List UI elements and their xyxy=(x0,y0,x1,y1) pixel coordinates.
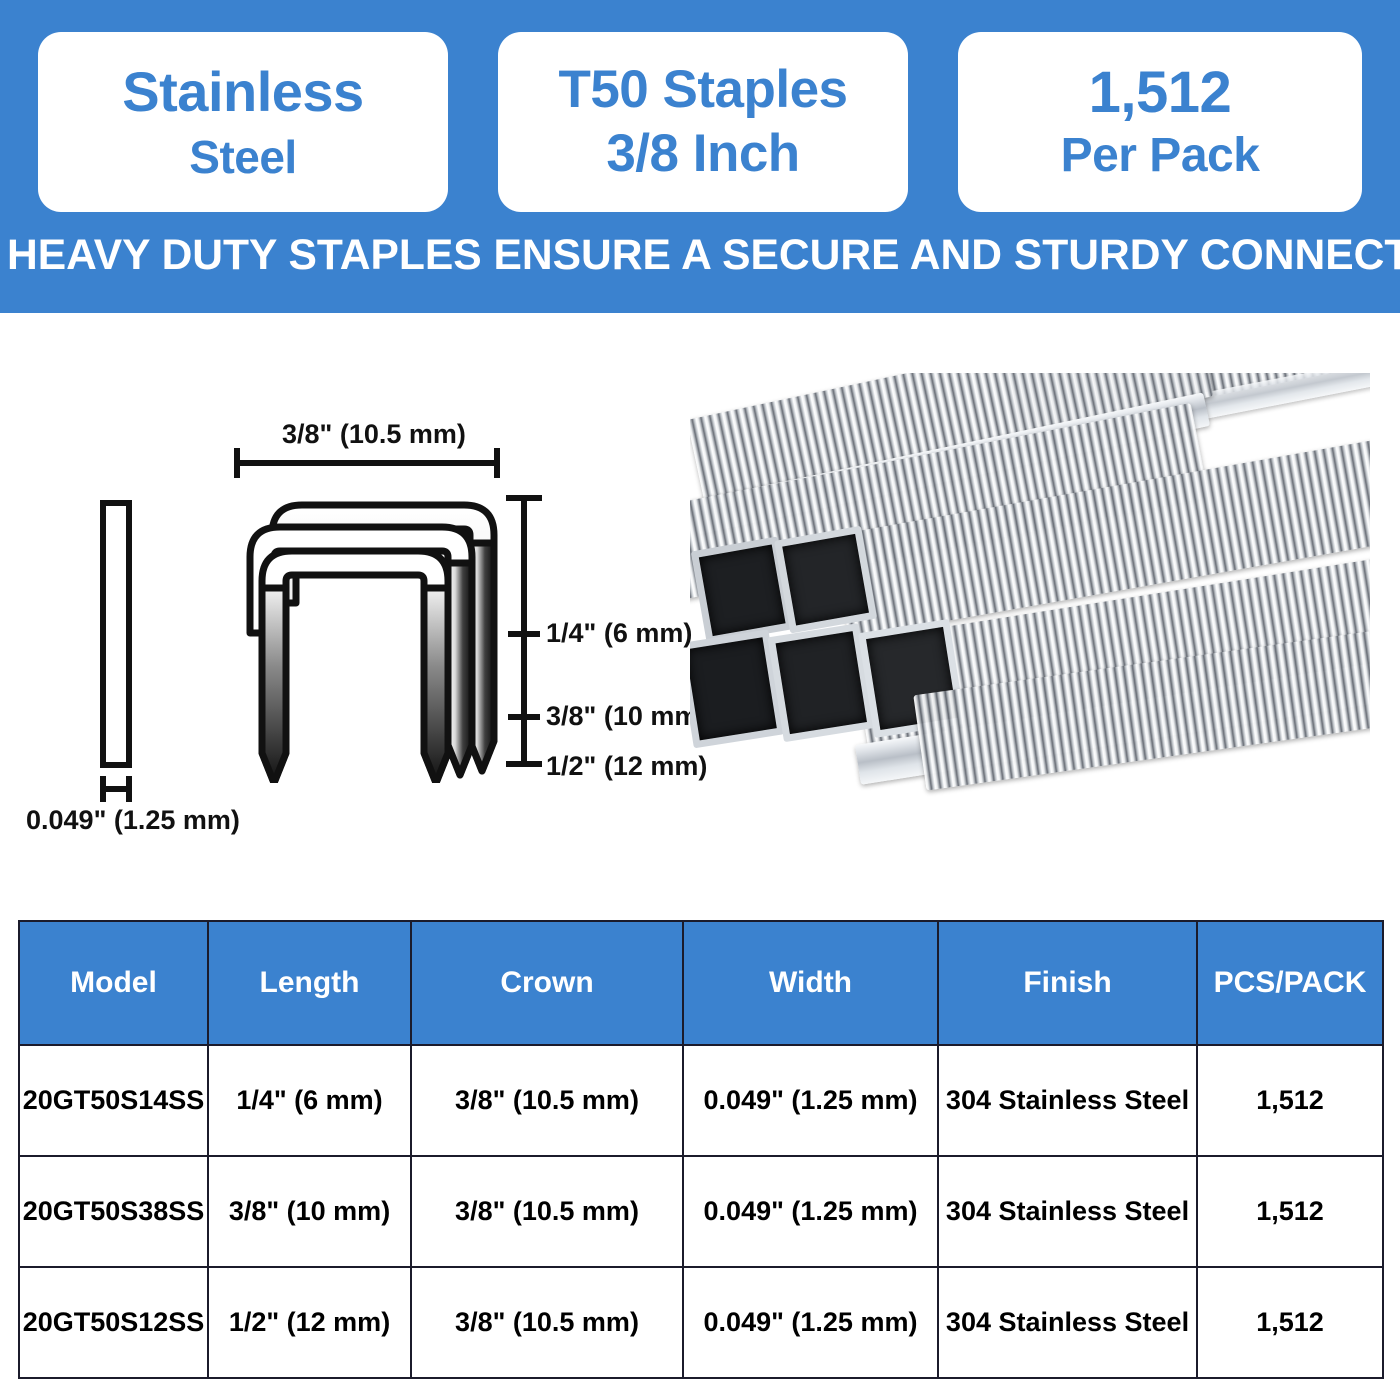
spec-card-type-line2: 3/8 Inch xyxy=(606,127,799,181)
length-ruler-cap-top xyxy=(506,495,542,501)
cell-length: 3/8" (10 mm) xyxy=(208,1156,411,1267)
width-dimension-cap-right xyxy=(126,776,132,802)
spec-card-type-line1: T50 Staples xyxy=(558,63,847,117)
cell-pcs-pack: 1,512 xyxy=(1197,1045,1383,1156)
table-row: 20GT50S14SS 1/4" (6 mm) 3/8" (10.5 mm) 0… xyxy=(19,1045,1383,1156)
staple-middle-right-leg xyxy=(448,563,472,775)
spec-card-quantity-line1: 1,512 xyxy=(1089,63,1232,122)
diagram-section: 0.049" (1.25 mm) 3/8" (10.5 mm) xyxy=(0,313,1400,913)
crown-dimension-line xyxy=(234,460,500,466)
spec-card-type: T50 Staples 3/8 Inch xyxy=(498,32,908,212)
cell-crown: 3/8" (10.5 mm) xyxy=(411,1156,683,1267)
cell-finish: 304 Stainless Steel xyxy=(938,1045,1197,1156)
spec-card-material-line1: Stainless xyxy=(122,63,363,120)
length-label-three-eighths: 3/8" (10 mm) xyxy=(546,701,707,732)
width-dimension-cap-left xyxy=(100,776,106,802)
width-dimension-label: 0.049" (1.25 mm) xyxy=(26,805,240,836)
cell-model: 20GT50S14SS xyxy=(19,1045,208,1156)
cell-length: 1/4" (6 mm) xyxy=(208,1045,411,1156)
staple-strips-photo xyxy=(690,373,1370,843)
staple-wire-cross-section xyxy=(100,500,132,768)
header-tagline: HEAVY DUTY STAPLES ENSURE A SECURE AND S… xyxy=(7,231,1393,280)
length-label-quarter: 1/4" (6 mm) xyxy=(546,618,692,649)
spec-card-material: Stainless Steel xyxy=(38,32,448,212)
column-header-pcs-pack: PCS/PACK xyxy=(1197,921,1383,1045)
spec-card-material-line2: Steel xyxy=(189,134,296,181)
cell-pcs-pack: 1,512 xyxy=(1197,1156,1383,1267)
cell-model: 20GT50S38SS xyxy=(19,1156,208,1267)
staple-line-drawing xyxy=(232,483,522,783)
crown-dimension-label: 3/8" (10.5 mm) xyxy=(282,419,466,450)
table-row: 20GT50S12SS 1/2" (12 mm) 3/8" (10.5 mm) … xyxy=(19,1267,1383,1378)
cell-width: 0.049" (1.25 mm) xyxy=(683,1156,938,1267)
table-header-row: Model Length Crown Width Finish PCS/PACK xyxy=(19,921,1383,1045)
cell-crown: 3/8" (10.5 mm) xyxy=(411,1045,683,1156)
length-label-half: 1/2" (12 mm) xyxy=(546,751,707,782)
column-header-length: Length xyxy=(208,921,411,1045)
cell-model: 20GT50S12SS xyxy=(19,1267,208,1378)
header-banner: Stainless Steel T50 Staples 3/8 Inch 1,5… xyxy=(0,0,1400,313)
product-infographic: Stainless Steel T50 Staples 3/8 Inch 1,5… xyxy=(0,0,1400,1400)
cell-crown: 3/8" (10.5 mm) xyxy=(411,1267,683,1378)
cell-width: 0.049" (1.25 mm) xyxy=(683,1045,938,1156)
crown-dimension-cap-right xyxy=(494,448,500,478)
cell-finish: 304 Stainless Steel xyxy=(938,1156,1197,1267)
length-ruler-cap-bottom xyxy=(506,761,542,767)
staple-front-right-leg xyxy=(424,588,448,783)
column-header-finish: Finish xyxy=(938,921,1197,1045)
cell-width: 0.049" (1.25 mm) xyxy=(683,1267,938,1378)
table-row: 20GT50S38SS 3/8" (10 mm) 3/8" (10.5 mm) … xyxy=(19,1156,1383,1267)
cell-pcs-pack: 1,512 xyxy=(1197,1267,1383,1378)
cell-length: 1/2" (12 mm) xyxy=(208,1267,411,1378)
cell-finish: 304 Stainless Steel xyxy=(938,1267,1197,1378)
crown-dimension-cap-left xyxy=(234,448,240,478)
length-tick-quarter xyxy=(508,631,540,637)
length-tick-three-eighths xyxy=(508,714,540,720)
spec-card-quantity-line2: Per Pack xyxy=(1061,132,1260,181)
staple-front-left-leg xyxy=(262,588,286,783)
column-header-model: Model xyxy=(19,921,208,1045)
spec-card-quantity: 1,512 Per Pack xyxy=(958,32,1362,212)
column-header-crown: Crown xyxy=(411,921,683,1045)
specifications-table: Model Length Crown Width Finish PCS/PACK… xyxy=(18,920,1384,1379)
column-header-width: Width xyxy=(683,921,938,1045)
